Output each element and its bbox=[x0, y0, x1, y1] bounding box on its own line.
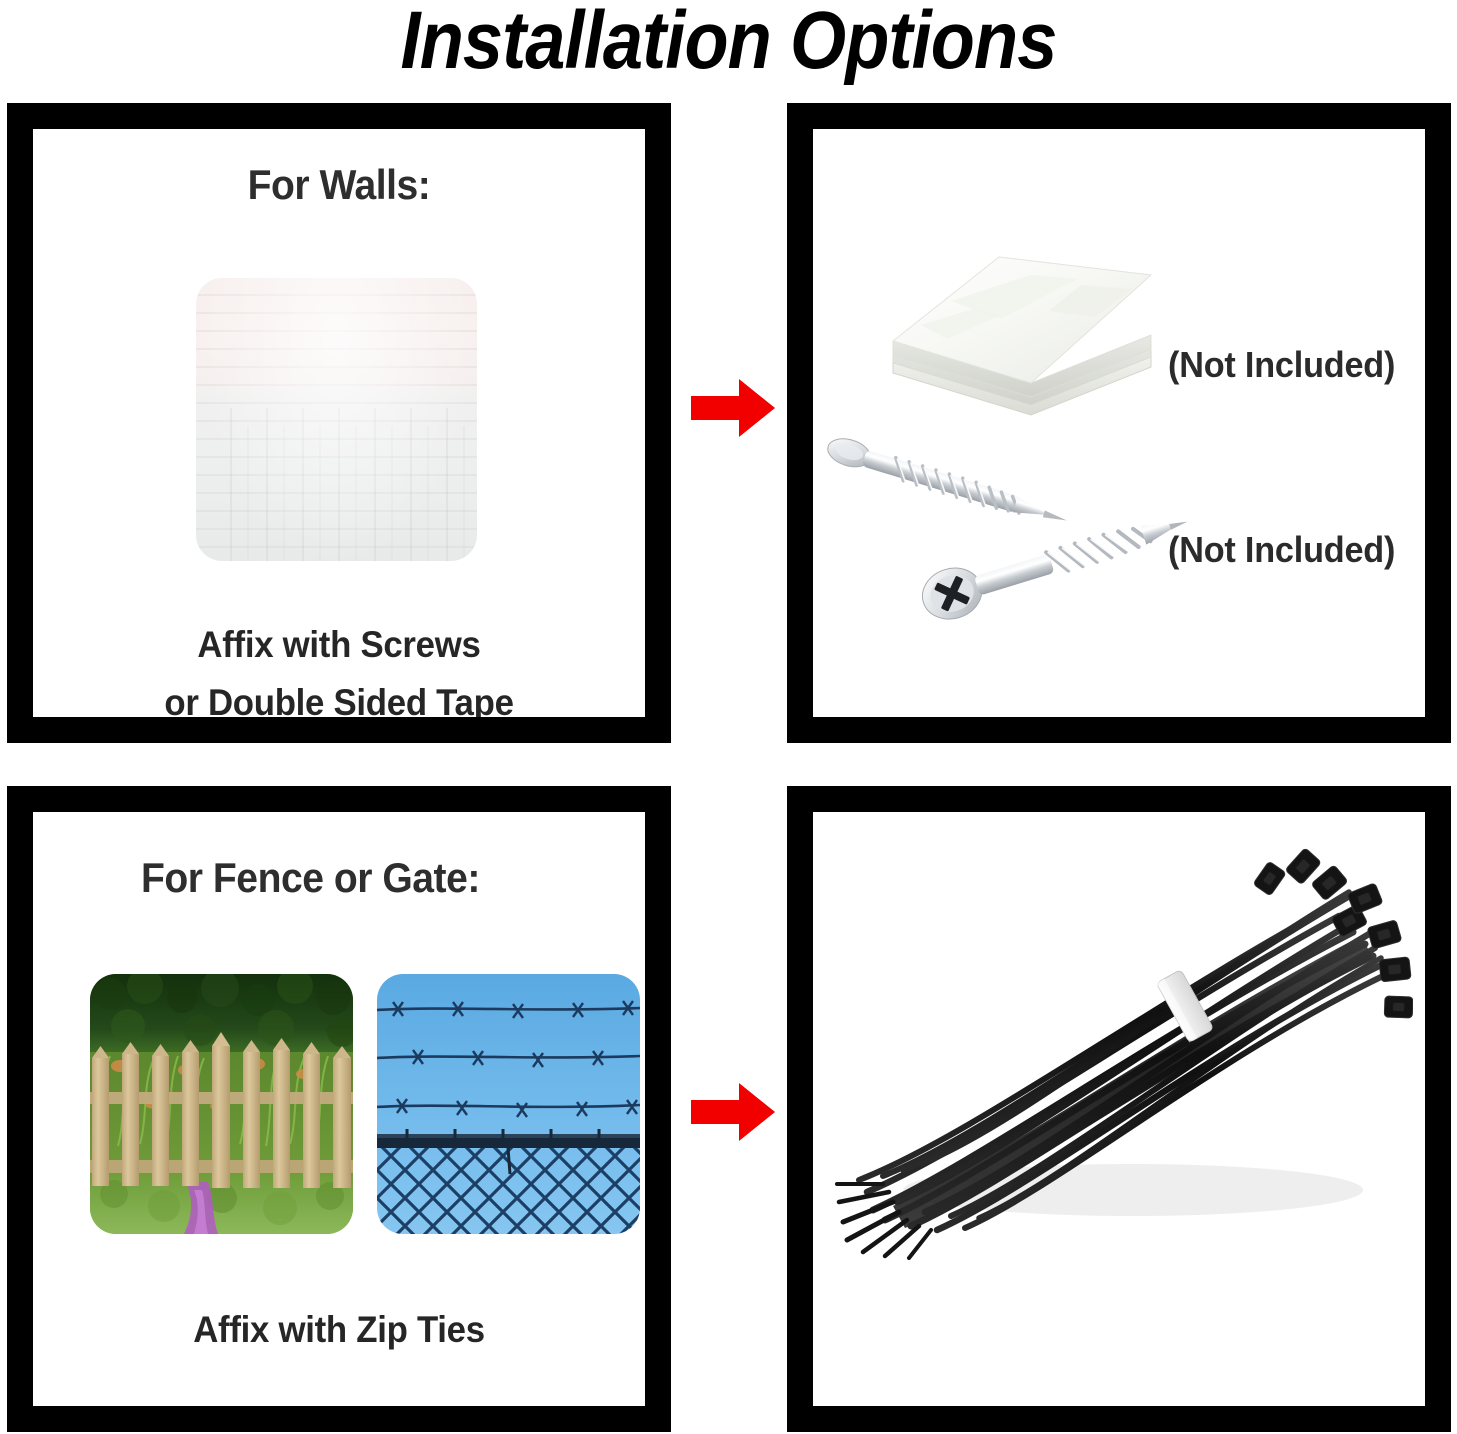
caption-affix-with-screws: Affix with Screws bbox=[51, 624, 626, 666]
double-sided-tape-icon bbox=[881, 239, 1171, 419]
wall-image bbox=[196, 278, 477, 561]
screw-phillips-icon bbox=[908, 511, 1198, 631]
wall-highlight bbox=[196, 278, 477, 561]
right-arrow-icon bbox=[691, 1083, 775, 1141]
zip-ties-icon bbox=[833, 840, 1413, 1260]
heading-for-fence-or-gate: For Fence or Gate: bbox=[141, 854, 480, 902]
panel-wall-hardware: (Not Included) bbox=[787, 103, 1451, 743]
right-arrow-icon bbox=[691, 379, 775, 437]
panel-fence-hardware: (Not Included) bbox=[787, 786, 1451, 1432]
caption-affix-with-zip-ties: Affix with Zip Ties bbox=[51, 1309, 626, 1351]
chain-link-fence-photo bbox=[377, 974, 640, 1234]
wooden-fence-photo bbox=[90, 974, 353, 1234]
screws-not-included-note: (Not Included) bbox=[1168, 529, 1395, 571]
panel-for-walls: For Walls: Affix with Screws or Double S… bbox=[7, 103, 671, 743]
page-title: Installation Options bbox=[87, 0, 1369, 88]
panel-for-fence-or-gate: For Fence or Gate: bbox=[7, 786, 671, 1432]
tape-not-included-note: (Not Included) bbox=[1168, 344, 1395, 386]
caption-or-double-sided-tape: or Double Sided Tape bbox=[51, 682, 626, 717]
heading-for-walls: For Walls: bbox=[54, 161, 623, 209]
